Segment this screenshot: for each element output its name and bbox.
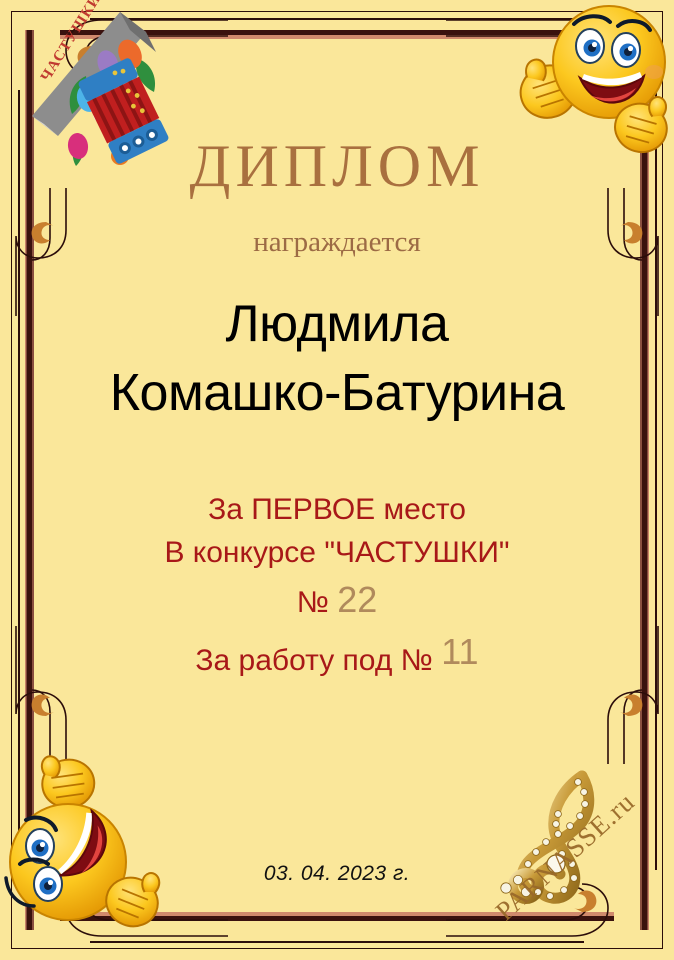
award-work-row: За работу под № 11 bbox=[48, 626, 626, 682]
certificate-canvas: ЧАСТУШКИ bbox=[0, 0, 674, 960]
award-number-value: 22 bbox=[337, 579, 377, 620]
award-place-line: За ПЕРВОЕ место bbox=[48, 488, 626, 531]
page-title: ДИПЛОМ bbox=[48, 136, 626, 196]
recipient-name-line-2: Комашко-Батурина bbox=[28, 359, 646, 428]
frame-rule-right bbox=[655, 90, 657, 870]
award-number-label: № bbox=[297, 586, 329, 619]
award-work-value: 11 bbox=[441, 631, 478, 672]
award-number-row: № 22 bbox=[48, 574, 626, 626]
award-contest-line: В конкурсе "ЧАСТУШКИ" bbox=[48, 531, 626, 574]
recipient-name-line-1: Людмила bbox=[28, 290, 646, 359]
issue-date: 03. 04. 2023 г. bbox=[48, 862, 626, 886]
award-details: За ПЕРВОЕ место В конкурсе "ЧАСТУШКИ" № … bbox=[48, 488, 626, 682]
frame-rule-left bbox=[18, 90, 20, 870]
certificate-content: ДИПЛОМ награждается Людмила Комашко-Бату… bbox=[48, 0, 626, 960]
award-subtitle: награждается bbox=[48, 228, 626, 257]
award-work-label: За работу под № bbox=[195, 644, 432, 677]
frame-band-left bbox=[25, 30, 34, 930]
frame-band-right bbox=[640, 30, 649, 930]
recipient-name: Людмила Комашко-Батурина bbox=[28, 290, 646, 428]
